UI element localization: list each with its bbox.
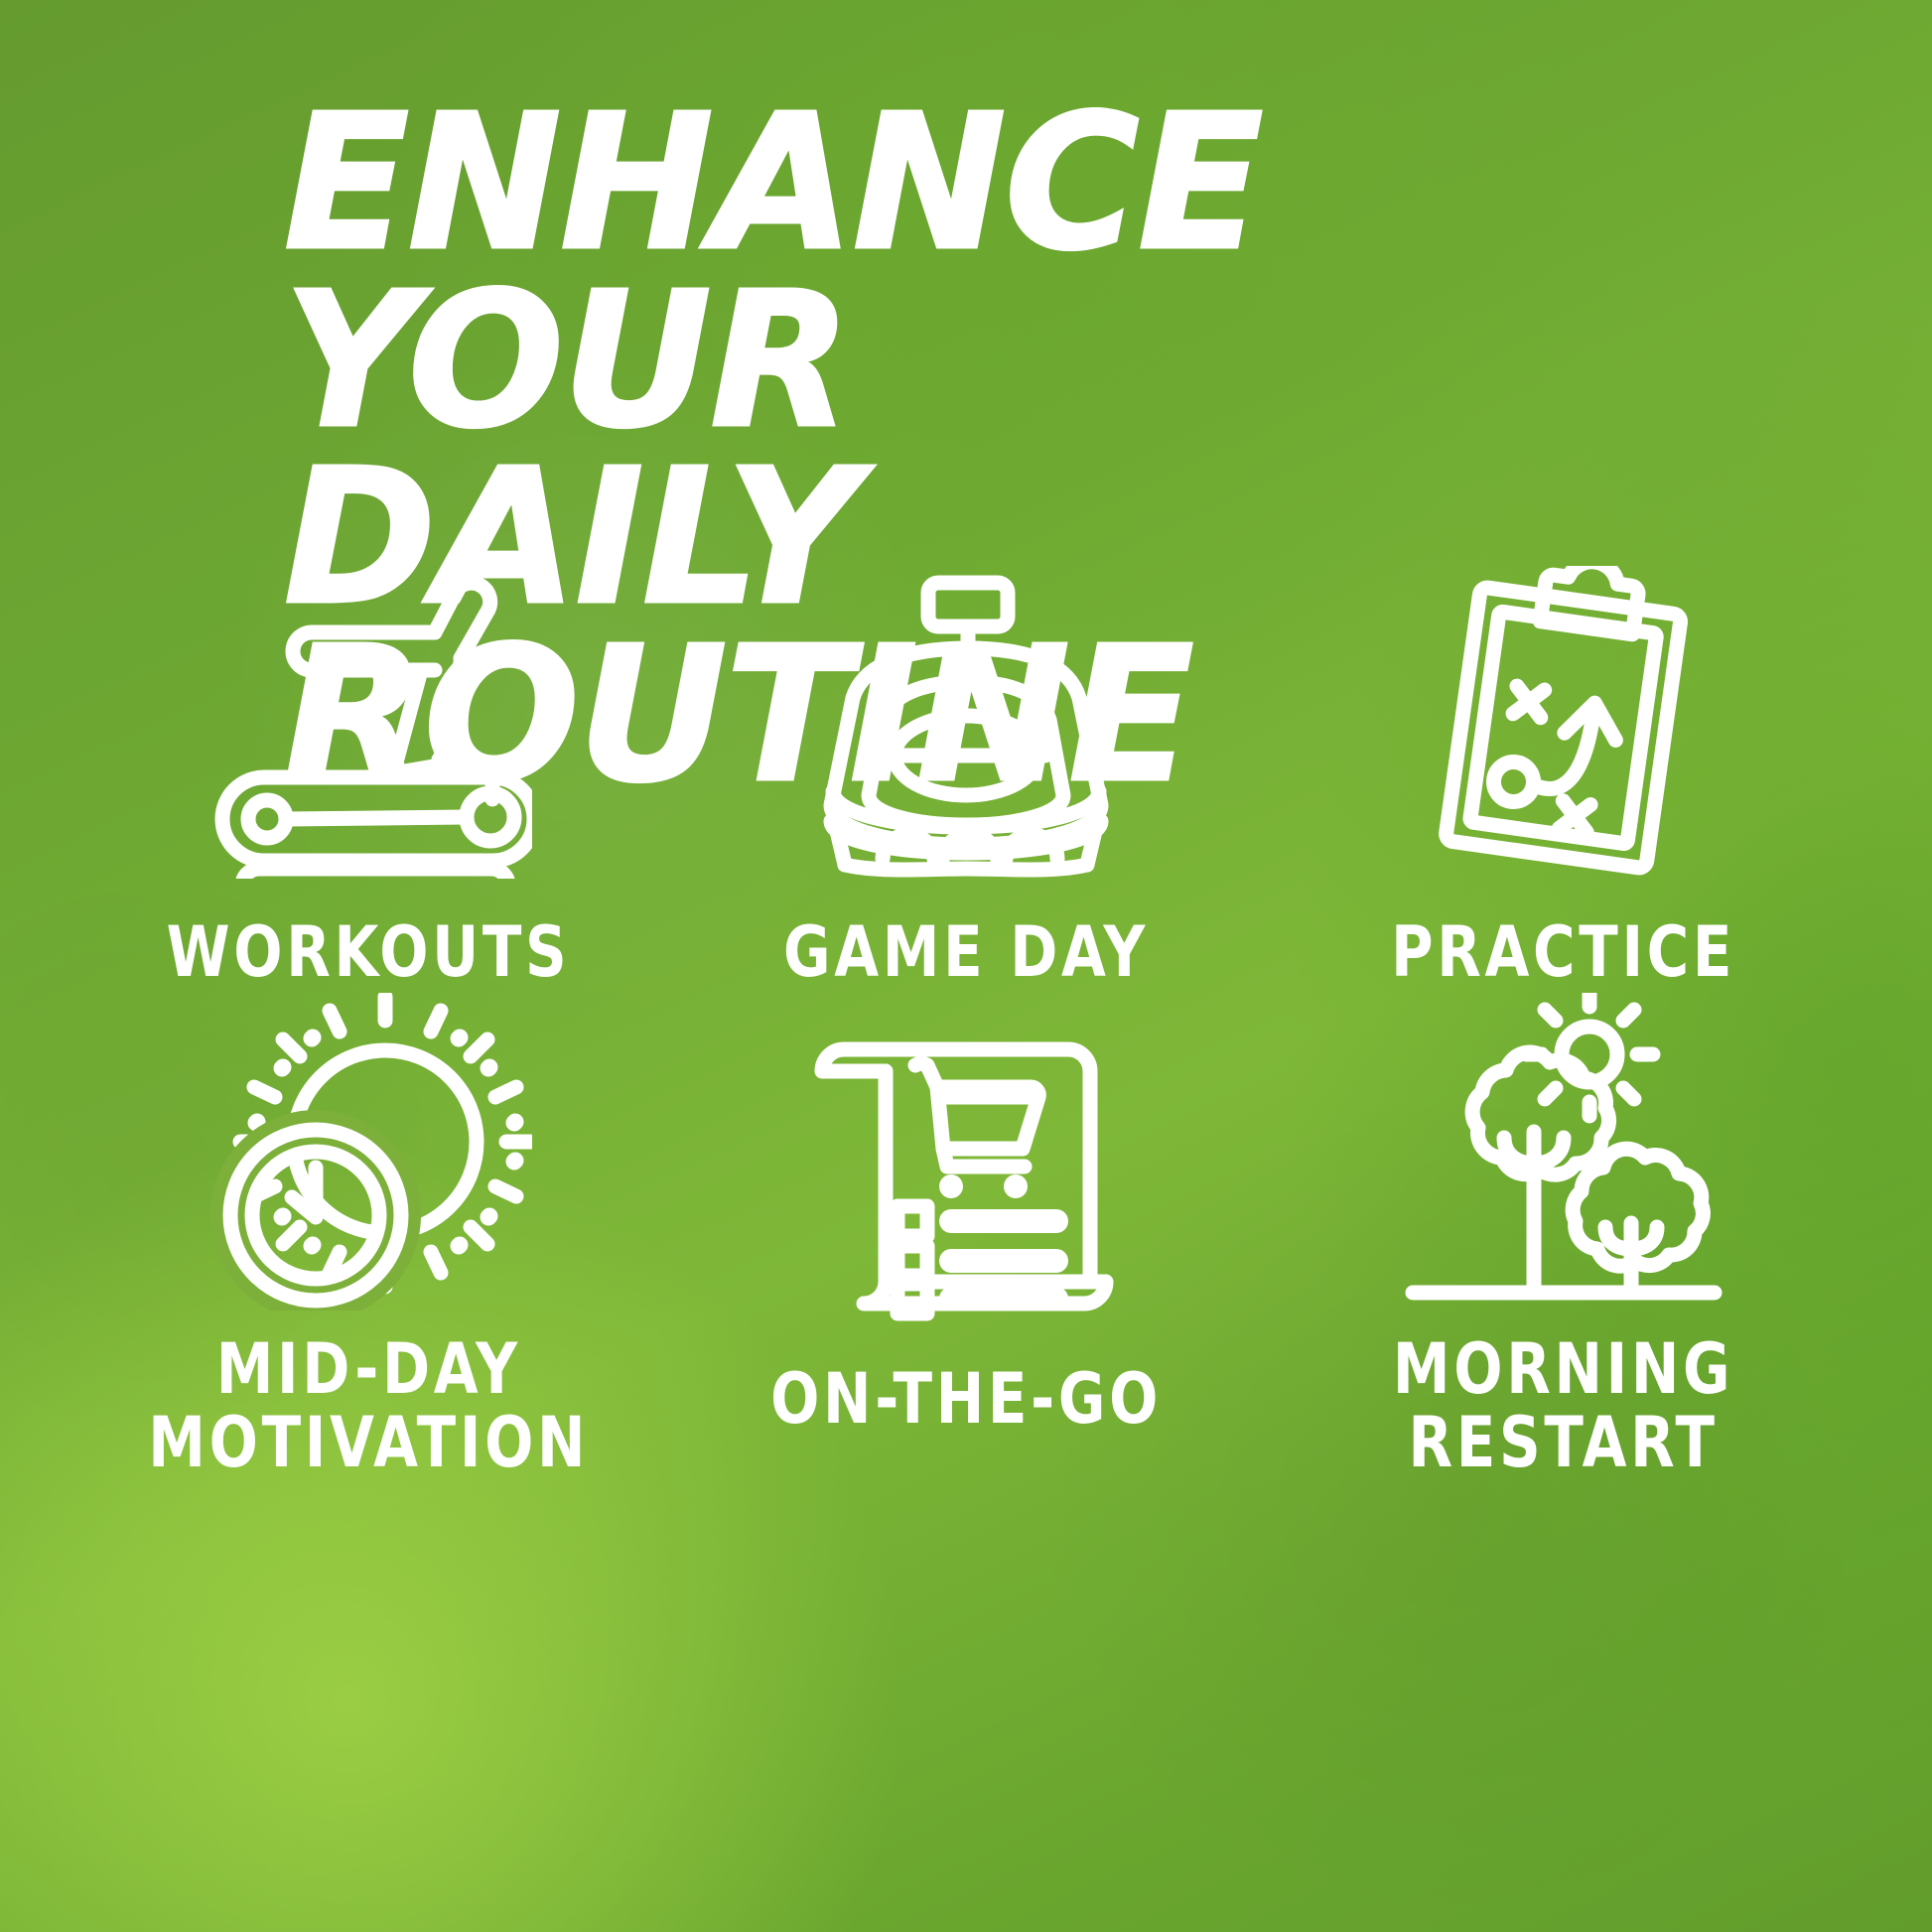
sun-clock-icon	[205, 993, 532, 1311]
feature-label: ON-THE-GO	[770, 1362, 1162, 1436]
feature-item-game-day: GAME DAY	[667, 556, 1265, 993]
feature-item-practice: PRACTICE	[1265, 556, 1863, 993]
stadium-icon	[807, 556, 1125, 894]
shopping-list-scroll-icon	[812, 993, 1120, 1340]
poster-canvas: ENHANCE YOUR DAILY ROUTINE	[0, 0, 1932, 1932]
feature-label: WORKOUTS	[167, 915, 571, 989]
feature-item-workouts: WORKOUTS	[69, 556, 667, 993]
feature-label: MORNING RESTART	[1393, 1332, 1733, 1479]
clipboard-playbook-icon	[1415, 556, 1713, 894]
trees-sun-icon	[1405, 993, 1723, 1311]
feature-item-morning-restart: MORNING RESTART	[1265, 993, 1863, 1459]
feature-item-mid-day-motivation: MID-DAY MOTIVATION	[69, 993, 667, 1459]
feature-label: MID-DAY MOTIVATION	[148, 1332, 589, 1479]
treadmill-icon	[205, 556, 532, 894]
page-title-line-1: ENHANCE YOUR	[284, 95, 1821, 450]
feature-item-on-the-go: ON-THE-GO	[667, 993, 1265, 1459]
feature-label: GAME DAY	[783, 915, 1149, 989]
feature-grid: WORKOUTS	[69, 556, 1863, 1459]
feature-label: PRACTICE	[1391, 915, 1735, 989]
